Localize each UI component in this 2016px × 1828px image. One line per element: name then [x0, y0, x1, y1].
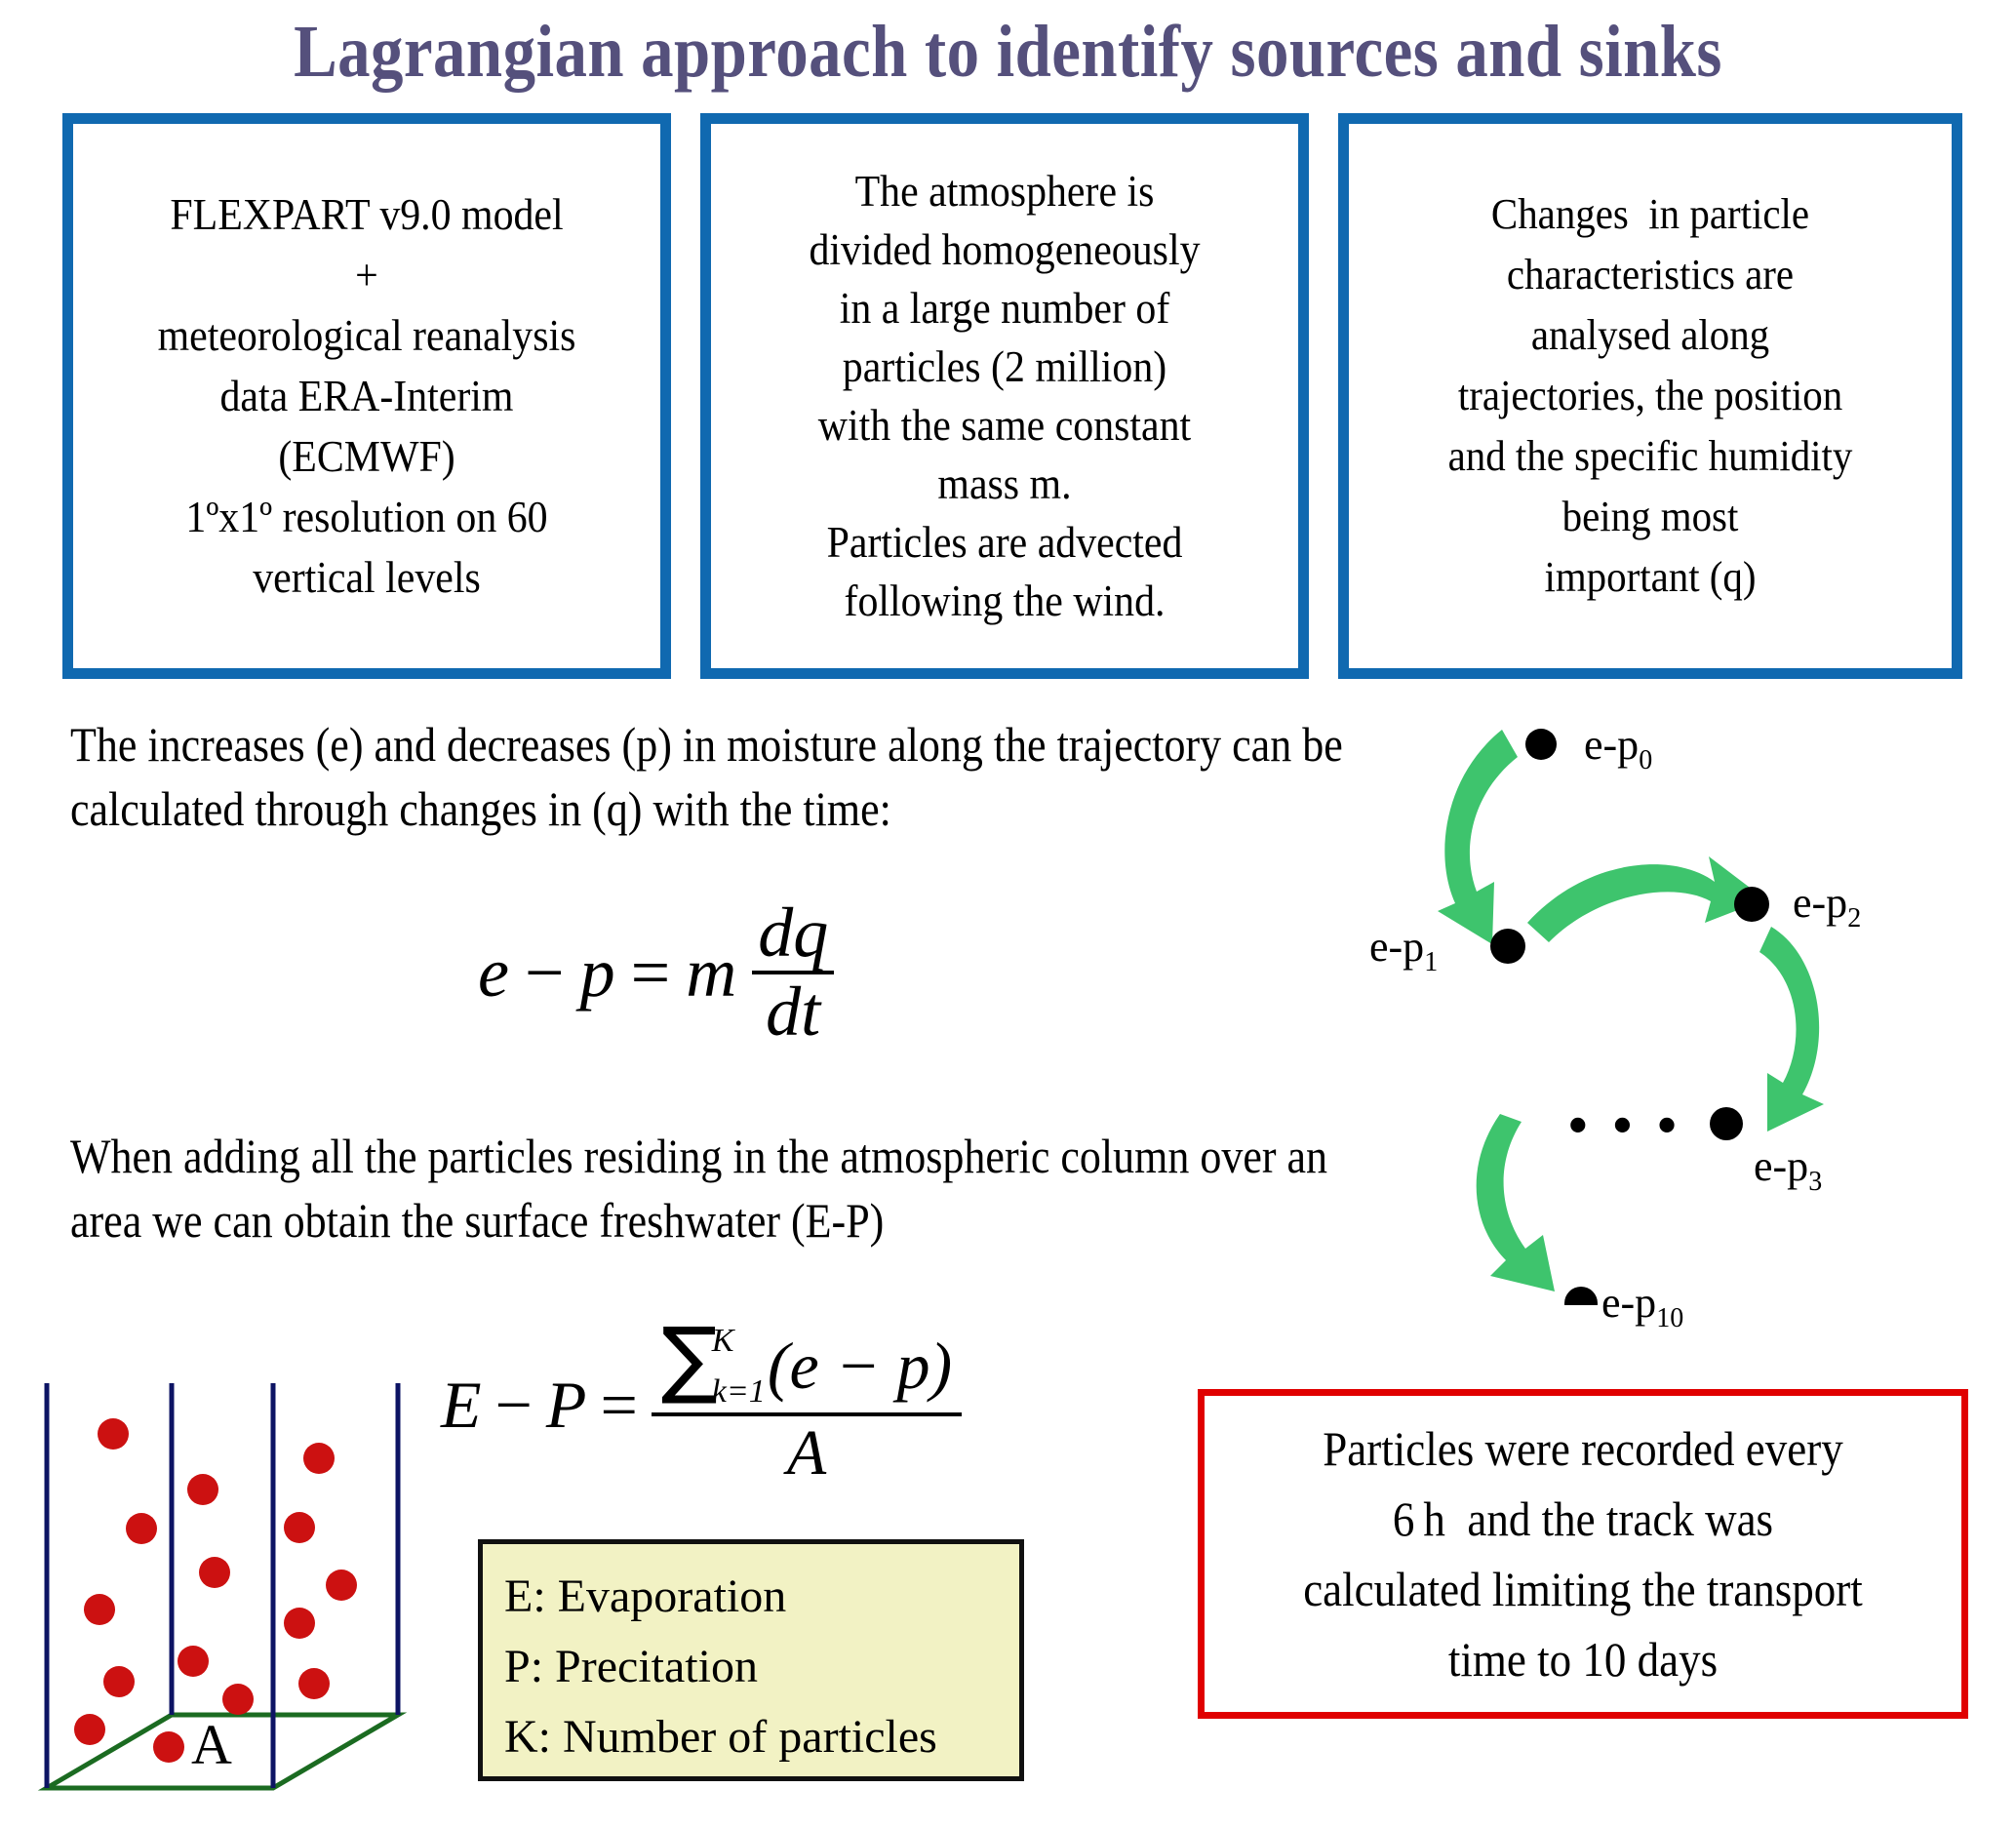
trajectory-label-10: e-p10	[1601, 1282, 1683, 1331]
column-particle	[298, 1668, 330, 1699]
recording-line-2: 6 h and the track was	[1243, 1484, 1923, 1554]
column-particle	[153, 1731, 184, 1763]
trajectory-dot-10	[1564, 1287, 1598, 1305]
equation-e-minus-p: e − p = m dq dt	[478, 897, 834, 1049]
legend-line-particles: K: Number of particles	[504, 1702, 1011, 1772]
eq2-minus: −	[495, 1367, 533, 1444]
info-box-characteristics-text: Changes in particle characteristics are …	[1379, 184, 1921, 608]
model-line-1: FLEXPART v9.0 model	[102, 184, 630, 245]
info-box-particles: The atmosphere is divided homogeneously …	[700, 113, 1309, 679]
eq2-P: P	[546, 1367, 587, 1444]
column-particle	[126, 1513, 157, 1544]
slide-canvas: Lagrangian approach to identify sources …	[0, 0, 2016, 1828]
particles-line-8: following the wind.	[740, 572, 1268, 630]
sigma-lower-limit: k=1	[712, 1375, 766, 1409]
trajectory-svg	[1383, 700, 2007, 1305]
trajectory-label-1: e-p1	[1369, 926, 1438, 974]
eq2-summand: (e − p)	[768, 1332, 952, 1400]
column-particle	[74, 1714, 105, 1745]
model-line-2: +	[102, 245, 630, 305]
column-particle	[98, 1418, 129, 1450]
column-particle	[178, 1646, 209, 1677]
trajectory-label-3: e-p3	[1754, 1145, 1822, 1194]
eq1-e: e	[478, 933, 509, 1013]
trajectory-label-0: e-p0	[1584, 724, 1652, 773]
column-particle	[187, 1474, 218, 1505]
arrow-0-to-1	[1438, 730, 1518, 944]
info-box-characteristics: Changes in particle characteristics are …	[1338, 113, 1962, 679]
particles-line-2: divided homogeneously	[740, 220, 1268, 279]
eq2-summation: ∑ K k=1	[661, 1325, 766, 1409]
paragraph-moisture-change: The increases (e) and decreases (p) in m…	[70, 712, 1358, 841]
trajectory-dot-1	[1490, 929, 1525, 964]
atmospheric-column-diagram	[29, 1383, 439, 1822]
recording-line-3: calculated limiting the transport	[1243, 1554, 1923, 1624]
page-title: Lagrangian approach to identify sources …	[121, 8, 1895, 96]
trajectory-sub-3: 3	[1808, 1167, 1822, 1197]
trajectory-sub-10: 10	[1656, 1303, 1683, 1333]
sigma-upper-limit: K	[712, 1325, 766, 1358]
particles-line-7: Particles are advected	[740, 513, 1268, 572]
characteristics-line-1: Changes in particle	[1379, 184, 1921, 245]
trajectory-dot-2	[1734, 887, 1769, 922]
column-particle	[326, 1570, 357, 1601]
eq2-E: E	[441, 1367, 482, 1444]
sigma-limits: K k=1	[712, 1325, 766, 1409]
recording-note-box: Particles were recorded every 6 h and th…	[1198, 1389, 1968, 1719]
symbol-legend-box: E: Evaporation P: Precitation K: Number …	[478, 1539, 1024, 1781]
trajectory-sub-2: 2	[1847, 903, 1861, 934]
column-area-label: A	[191, 1717, 232, 1773]
characteristics-line-4: trajectories, the position	[1379, 366, 1921, 426]
eq1-numerator: dq	[752, 897, 834, 971]
paragraph-column-sum: When adding all the particles residing i…	[70, 1124, 1409, 1252]
characteristics-line-5: and the specific humidity	[1379, 426, 1921, 487]
eq2-denominator: A	[781, 1416, 832, 1486]
model-line-3: meteorological reanalysis	[102, 305, 630, 366]
column-particle	[284, 1512, 315, 1543]
trajectory-ellipsis: • • •	[1568, 1106, 1682, 1145]
trajectory-dot-3	[1710, 1107, 1743, 1140]
sigma-icon: ∑	[661, 1325, 718, 1394]
trajectory-label-2: e-p2	[1793, 882, 1861, 931]
recording-line-4: time to 10 days	[1243, 1624, 1923, 1694]
model-line-6: 1ºx1º resolution on 60	[102, 487, 630, 547]
particles-line-4: particles (2 million)	[740, 338, 1268, 396]
eq2-equals: =	[600, 1367, 637, 1444]
particles-line-1: The atmosphere is	[740, 162, 1268, 220]
model-line-7: vertical levels	[102, 547, 630, 608]
legend-line-precipitation: P: Precitation	[504, 1632, 1011, 1702]
column-particle	[303, 1443, 335, 1474]
eq1-denominator: dt	[760, 974, 826, 1048]
legend-line-evaporation: E: Evaporation	[504, 1562, 1011, 1632]
eq2-fraction: ∑ K k=1 (e − p) A	[652, 1325, 962, 1486]
trajectory-sub-0: 0	[1639, 745, 1652, 775]
particles-line-6: mass m.	[740, 455, 1268, 513]
info-box-particles-text: The atmosphere is divided homogeneously …	[740, 162, 1268, 630]
trajectory-diagram: e-p0 e-p1 e-p2 e-p3 e-p10 • • •	[1383, 700, 2007, 1305]
eq1-fraction: dq dt	[752, 897, 834, 1049]
trajectory-dot-0	[1525, 729, 1557, 760]
eq1-equals: =	[631, 933, 671, 1013]
recording-line-1: Particles were recorded every	[1243, 1413, 1923, 1484]
arrow-1-to-2	[1527, 856, 1765, 942]
arrow-dots-to-10	[1477, 1114, 1555, 1292]
model-line-5: (ECMWF)	[102, 426, 630, 487]
characteristics-line-3: analysed along	[1379, 305, 1921, 366]
column-particle	[284, 1608, 315, 1639]
column-particle	[103, 1666, 135, 1697]
eq1-p: p	[580, 933, 615, 1013]
column-particle	[84, 1594, 115, 1625]
arrow-2-to-3	[1759, 927, 1824, 1132]
eq1-m: m	[686, 933, 736, 1013]
column-particle	[222, 1684, 254, 1715]
column-particle	[199, 1557, 230, 1588]
characteristics-line-6: being most	[1379, 487, 1921, 547]
trajectory-sub-1: 1	[1424, 947, 1438, 977]
info-box-model-text: FLEXPART v9.0 model + meteorological rea…	[102, 184, 630, 608]
equation-E-minus-P: E − P = ∑ K k=1 (e − p) A	[441, 1325, 962, 1486]
characteristics-line-2: characteristics are	[1379, 245, 1921, 305]
characteristics-line-7: important (q)	[1379, 547, 1921, 608]
recording-note-text: Particles were recorded every 6 h and th…	[1243, 1413, 1923, 1694]
sigma-symbol-group: ∑	[661, 1325, 718, 1394]
particles-line-5: with the same constant	[740, 396, 1268, 455]
eq2-numerator: ∑ K k=1 (e − p)	[652, 1325, 962, 1412]
model-line-4: data ERA-Interim	[102, 366, 630, 426]
info-box-model: FLEXPART v9.0 model + meteorological rea…	[62, 113, 671, 679]
particles-line-3: in a large number of	[740, 279, 1268, 338]
eq1-minus: −	[525, 933, 565, 1013]
column-svg	[29, 1383, 439, 1822]
